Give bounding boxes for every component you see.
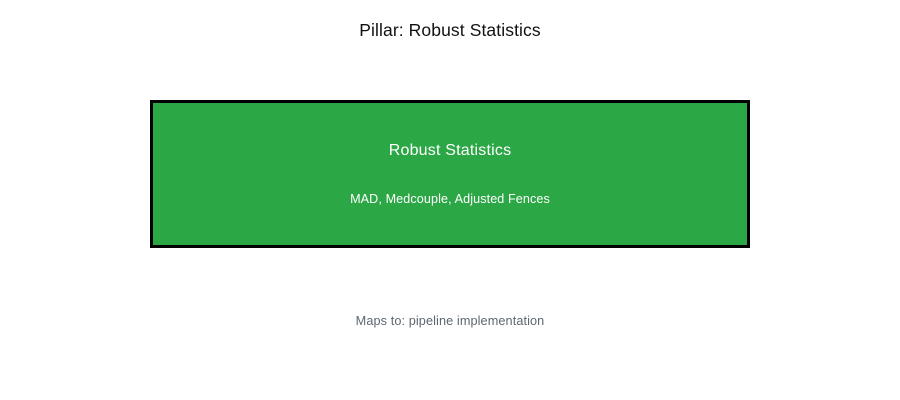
pillar-box-sublabel: MAD, Medcouple, Adjusted Fences [350,191,550,207]
mapping-caption: Maps to: pipeline implementation [0,313,900,330]
page-title: Pillar: Robust Statistics [0,19,900,41]
pillar-box-label: Robust Statistics [389,141,512,161]
pillar-box[interactable]: Robust Statistics MAD, Medcouple, Adjust… [150,100,750,248]
pillar-diagram: Pillar: Robust Statistics Robust Statist… [0,0,900,400]
